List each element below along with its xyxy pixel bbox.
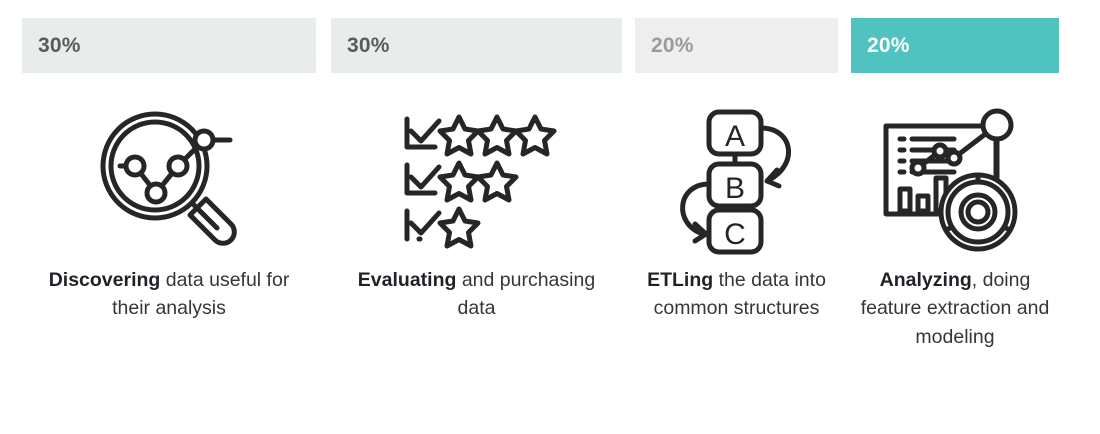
caption-lead-1: Evaluating — [358, 269, 457, 291]
dashboard-donut-chart-icon — [878, 96, 1033, 266]
caption-lead-0: Discovering — [49, 269, 161, 291]
percentage-bar-label-2: 20% — [651, 35, 694, 56]
checklist-star-rating-icon — [397, 96, 557, 266]
caption-rest-1: and purchasing data — [456, 269, 595, 319]
percentage-bar-discovering: 30% — [22, 18, 316, 73]
abc-flow-boxes-icon: A B C — [667, 96, 807, 266]
caption-lead-3: Analyzing — [880, 269, 972, 291]
caption-etling: ETLing the data into common structures — [635, 266, 838, 323]
column-discovering: Discovering data useful for their analys… — [22, 96, 316, 323]
column-analyzing: Analyzing, doing feature extraction and … — [851, 96, 1059, 351]
caption-discovering: Discovering data useful for their analys… — [22, 266, 316, 323]
percentage-bar-row: 30% 30% 20% 20% — [0, 18, 1100, 73]
percentage-bar-label-3: 20% — [867, 35, 910, 56]
caption-analyzing: Analyzing, doing feature extraction and … — [851, 266, 1059, 351]
column-row: Discovering data useful for their analys… — [0, 96, 1100, 426]
percentage-bar-label-1: 30% — [347, 35, 390, 56]
caption-lead-2: ETLing — [647, 269, 713, 291]
percentage-bar-evaluating: 30% — [331, 18, 622, 73]
svg-text:B: B — [724, 172, 744, 205]
svg-text:C: C — [724, 218, 746, 251]
magnifier-line-chart-icon — [94, 96, 244, 266]
infographic-board: 30% 30% 20% 20% — [0, 0, 1100, 434]
percentage-bar-analyzing: 20% — [851, 18, 1059, 73]
svg-text:A: A — [724, 120, 744, 153]
percentage-bar-etling: 20% — [635, 18, 838, 73]
column-etling: A B C ETLing the data into common struct… — [635, 96, 838, 323]
caption-evaluating: Evaluating and purchasing data — [331, 266, 622, 323]
column-evaluating: Evaluating and purchasing data — [331, 96, 622, 323]
percentage-bar-label-0: 30% — [38, 35, 81, 56]
